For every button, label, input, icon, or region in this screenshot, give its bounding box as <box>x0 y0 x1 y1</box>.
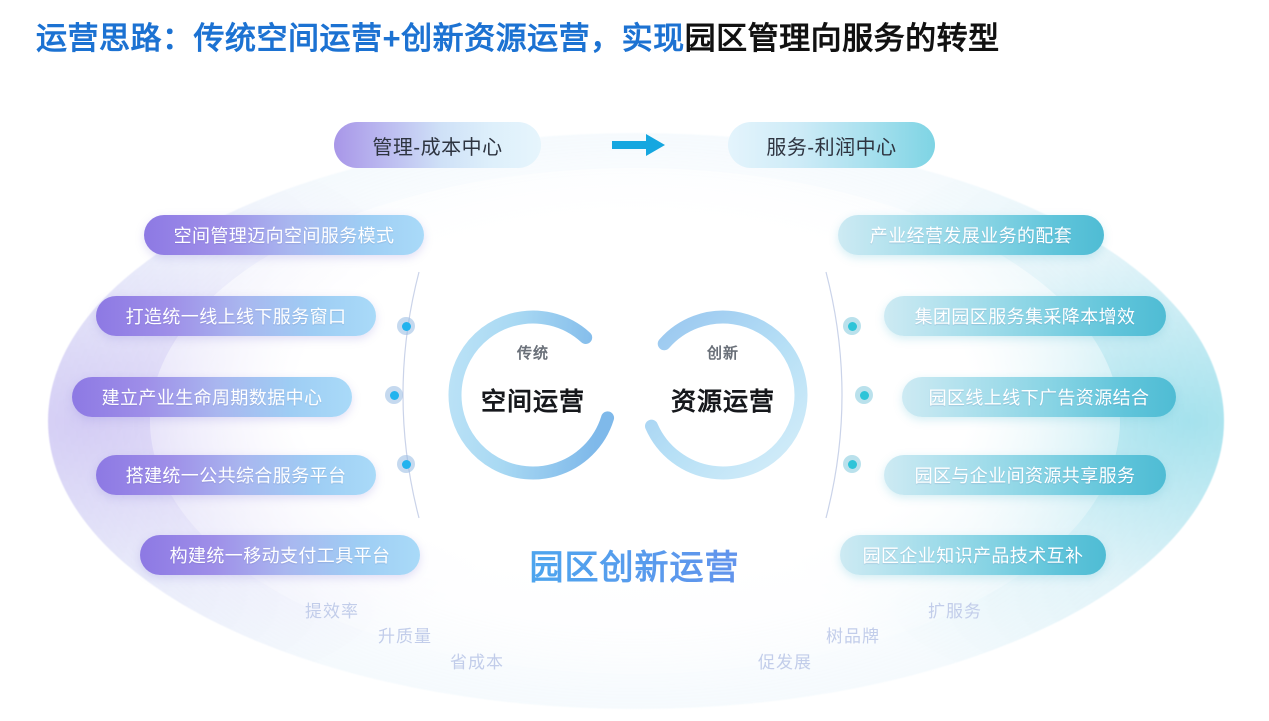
center-headline: 园区创新运营 <box>0 540 1269 589</box>
page-title-blue: 运营思路：传统空间运营+创新资源运营，实现 <box>36 21 685 56</box>
ghost-label-left-1: 提效率 <box>305 597 359 622</box>
pill-service-profit-center-label: 服务-利润中心 <box>766 131 896 160</box>
left-pill-2-label: 打造统一线上线下服务窗口 <box>126 303 347 329</box>
node-dot-left-2 <box>385 386 403 404</box>
left-pill-2[interactable]: 打造统一线上线下服务窗口 <box>96 296 376 336</box>
ghost-label-right-2: 树品牌 <box>826 622 880 647</box>
node-dot-left-3 <box>397 455 415 473</box>
left-pill-4-label: 搭建统一公共综合服务平台 <box>126 462 347 488</box>
page-title-black: 园区管理向服务的转型 <box>685 21 1000 56</box>
left-pill-1[interactable]: 空间管理迈向空间服务模式 <box>144 215 424 255</box>
page-title: 运营思路：传统空间运营+创新资源运营，实现园区管理向服务的转型 <box>36 20 1000 59</box>
ghost-label-left-3: 省成本 <box>450 648 504 673</box>
right-pill-1[interactable]: 产业经营发展业务的配套 <box>838 215 1104 255</box>
left-pill-3[interactable]: 建立产业生命周期数据中心 <box>72 377 352 417</box>
left-circle-title: 空间运营 <box>470 382 596 418</box>
ghost-label-right-1: 扩服务 <box>928 597 982 622</box>
right-pill-3-label: 园区线上线下广告资源结合 <box>929 384 1150 410</box>
left-circle-subtitle: 传统 <box>470 342 596 363</box>
pill-management-cost-center-label: 管理-成本中心 <box>372 131 502 160</box>
node-dot-right-1 <box>843 317 861 335</box>
right-pill-1-label: 产业经营发展业务的配套 <box>870 222 1072 248</box>
right-pill-2-label: 集团园区服务集采降本增效 <box>915 303 1136 329</box>
ghost-label-right-3: 促发展 <box>758 648 812 673</box>
node-dot-right-2 <box>855 386 873 404</box>
pill-management-cost-center[interactable]: 管理-成本中心 <box>334 122 541 168</box>
node-dot-left-1 <box>397 317 415 335</box>
pill-service-profit-center[interactable]: 服务-利润中心 <box>728 122 935 168</box>
node-dot-right-3 <box>843 455 861 473</box>
arrow-right-icon <box>610 133 668 157</box>
right-pill-3[interactable]: 园区线上线下广告资源结合 <box>902 377 1176 417</box>
right-circle-title: 资源运营 <box>660 382 786 418</box>
right-pill-4[interactable]: 园区与企业间资源共享服务 <box>884 455 1166 495</box>
right-pill-2[interactable]: 集团园区服务集采降本增效 <box>884 296 1166 336</box>
right-pill-4-label: 园区与企业间资源共享服务 <box>915 462 1136 488</box>
ghost-label-left-2: 升质量 <box>378 622 432 647</box>
left-pill-3-label: 建立产业生命周期数据中心 <box>102 384 323 410</box>
right-circle-subtitle: 创新 <box>660 342 786 363</box>
left-pill-1-label: 空间管理迈向空间服务模式 <box>174 222 395 248</box>
left-pill-4[interactable]: 搭建统一公共综合服务平台 <box>96 455 376 495</box>
